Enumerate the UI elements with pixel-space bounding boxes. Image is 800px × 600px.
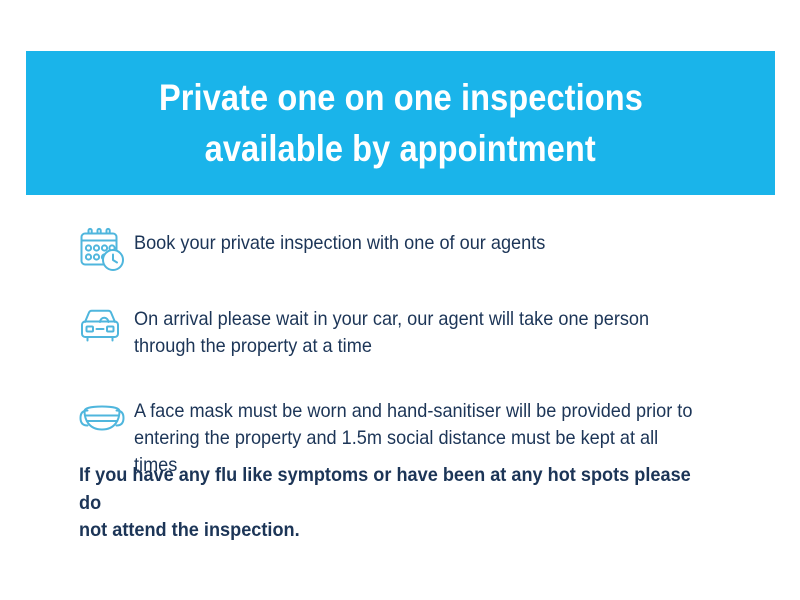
header-banner: Private one on one inspections available…	[26, 51, 775, 195]
list-item-text: Book your private inspection with one of…	[134, 224, 696, 257]
car-front-icon	[78, 300, 134, 350]
footer-warning-line: If you have any flu like symptoms or hav…	[79, 462, 711, 517]
list-item-line: through the property at a time	[134, 333, 696, 360]
list-item-text: On arrival please wait in your car, our …	[134, 300, 696, 360]
list-item: On arrival please wait in your car, our …	[78, 300, 738, 360]
calendar-clock-icon	[78, 224, 134, 274]
list-item-line: A face mask must be worn and hand-saniti…	[134, 398, 696, 425]
banner-title-line-1: Private one on one inspections	[159, 72, 643, 123]
list-item-line: Book your private inspection with one of…	[134, 230, 696, 257]
list-item: Book your private inspection with one of…	[78, 224, 738, 274]
face-mask-icon	[78, 392, 134, 442]
instruction-list: Book your private inspection with one of…	[78, 224, 738, 479]
poster-root: Private one on one inspections available…	[0, 0, 800, 600]
list-item-line: On arrival please wait in your car, our …	[134, 306, 696, 333]
banner-title-line-2: available by appointment	[205, 123, 596, 174]
footer-warning-line: not attend the inspection.	[79, 517, 711, 545]
footer-warning: If you have any flu like symptoms or hav…	[79, 462, 711, 545]
